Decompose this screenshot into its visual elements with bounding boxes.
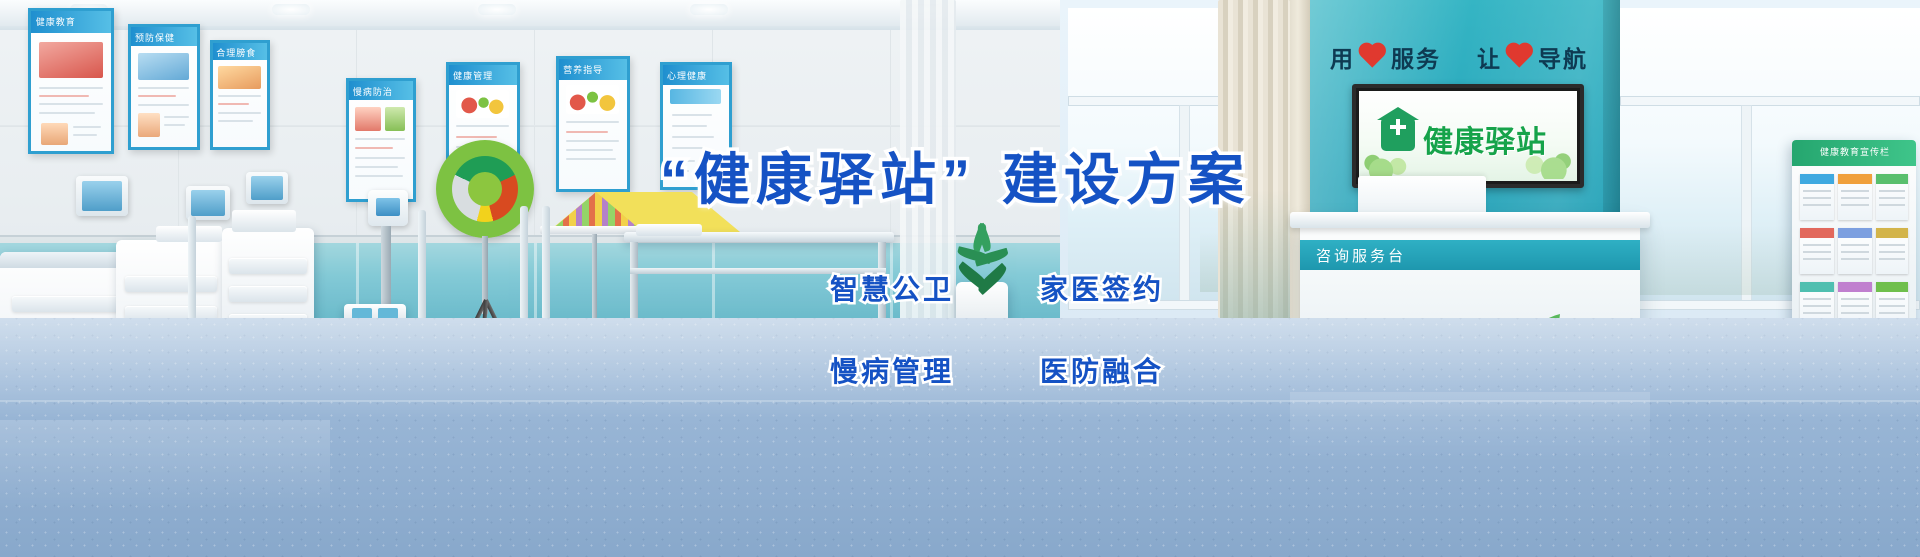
- partition-post: [542, 206, 550, 320]
- display-title: 健康驿站: [1423, 117, 1547, 161]
- leaflet: [1838, 228, 1872, 274]
- wall-poster: 合理膀食: [210, 40, 270, 150]
- display-screen-content: 健康驿站: [1359, 91, 1577, 181]
- wall-display-screen[interactable]: 健康驿站: [1352, 84, 1584, 188]
- wall-monitor[interactable]: [76, 176, 128, 216]
- table-equipment-tray: [636, 224, 702, 236]
- pyramid-stand: [592, 234, 597, 320]
- ceiling-light: [478, 4, 516, 15]
- wall-poster: 心理健康: [660, 62, 732, 190]
- ceiling-light: [690, 4, 728, 15]
- counter-worktop: [1290, 212, 1650, 228]
- leaflet: [1800, 174, 1834, 220]
- heart-icon: [1508, 45, 1531, 68]
- counter-label: 咨询服务台: [1316, 245, 1476, 265]
- kiosk-column: [381, 226, 391, 306]
- leaflet: [1876, 228, 1908, 274]
- nutrition-wheel-center: [468, 172, 502, 206]
- window-mullion: [1180, 106, 1189, 308]
- leaflet: [1876, 174, 1908, 220]
- partition-post: [418, 210, 426, 320]
- poster-title: 健康教育: [36, 15, 76, 28]
- wall-slogan: 用 服务 让 导航: [1330, 40, 1610, 74]
- health-house-cross-icon: [1381, 117, 1415, 151]
- floor-reflection: [0, 420, 330, 510]
- poster-title: 健康管理: [453, 69, 493, 82]
- wall-poster: 健康教育: [28, 8, 114, 154]
- wall-poster: 预防保健: [128, 24, 200, 150]
- slogan-part-3: 让: [1477, 40, 1502, 74]
- poster-title: 预防保健: [135, 31, 175, 44]
- poster-title: 慢病防治: [353, 85, 393, 98]
- wall-poster: 慢病防治: [346, 78, 416, 202]
- table-rail: [630, 268, 886, 274]
- leaflet: [1838, 174, 1872, 220]
- wall-poster: 营养指导: [556, 56, 630, 192]
- slogan-part-4: 导航: [1538, 40, 1588, 74]
- heart-icon: [1361, 45, 1384, 68]
- brochure-rack[interactable]: [1792, 140, 1916, 340]
- partition-post: [188, 216, 196, 320]
- leaflet: [1800, 228, 1834, 274]
- brochure-rack-label: 健康教育宣传栏: [1796, 145, 1914, 158]
- cart-tray: [232, 210, 296, 232]
- self-service-health-kiosk[interactable]: [368, 190, 408, 226]
- slogan-part-2: 服务: [1391, 40, 1441, 74]
- ceiling-light: [272, 4, 310, 15]
- partition-post: [520, 206, 528, 320]
- window-frame: [1620, 96, 1920, 106]
- poster-title: 心理健康: [667, 69, 707, 82]
- wall-monitor[interactable]: [186, 186, 230, 220]
- curtain-shade: [1220, 190, 1290, 320]
- wall-monitor[interactable]: [246, 172, 288, 204]
- potted-palm: [946, 216, 1022, 288]
- scene-canvas: 用 服务 让 导航 健康驿站 健康教育 预防保健 合理膀食: [0, 0, 1920, 557]
- poster-title: 营养指导: [563, 63, 603, 76]
- floor-reflection: [1290, 392, 1650, 462]
- poster-title: 合理膀食: [216, 46, 256, 59]
- slogan-part-1: 用: [1330, 40, 1355, 74]
